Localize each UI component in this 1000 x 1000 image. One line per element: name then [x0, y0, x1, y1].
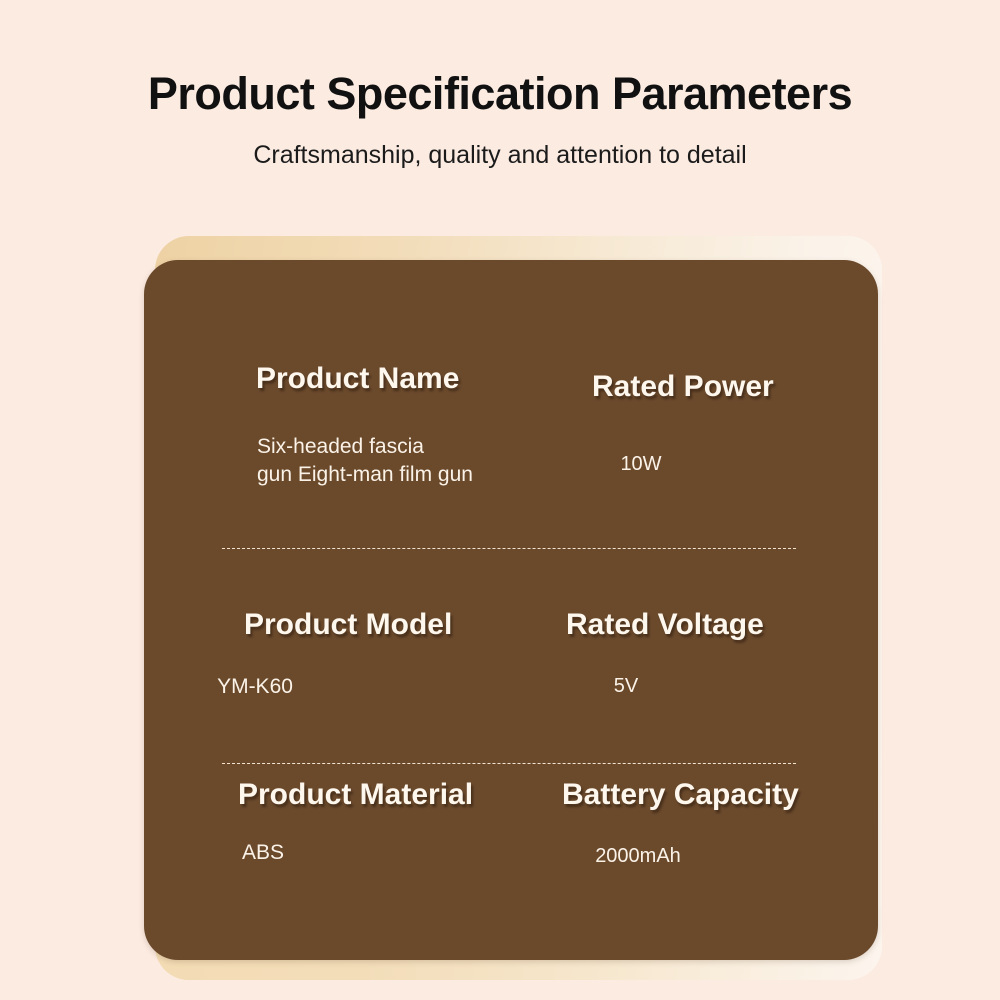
spec-value-rated-voltage: 5V: [474, 641, 878, 699]
spec-card-stack: Product Name Six-headed fascia gun Eight…: [122, 228, 882, 980]
spec-label-battery-capacity: Battery Capacity: [474, 778, 878, 811]
spec-cell-product-name: Product Name Six-headed fascia gun Eight…: [144, 358, 474, 488]
spec-divider: [222, 763, 796, 764]
spec-cell-rated-voltage: Rated Voltage 5V: [474, 608, 878, 699]
spec-row: Product Name Six-headed fascia gun Eight…: [144, 358, 878, 554]
spec-cell-product-model: Product Model YM-K60: [144, 608, 474, 701]
spec-table: Product Name Six-headed fascia gun Eight…: [144, 260, 878, 960]
page-header: Product Specification Parameters Craftsm…: [0, 0, 1000, 170]
spec-label-product-material: Product Material: [144, 778, 474, 811]
spec-cell-rated-power: Rated Power 10W: [474, 358, 878, 477]
spec-row: Product Model YM-K60 Rated Voltage 5V: [144, 608, 878, 776]
spec-value-product-name: Six-headed fascia gun Eight-man film gun: [144, 395, 474, 488]
product-spec-page: Product Specification Parameters Craftsm…: [0, 0, 1000, 1000]
spec-cell-battery-capacity: Battery Capacity 2000mAh: [474, 778, 878, 869]
page-subtitle: Craftsmanship, quality and attention to …: [0, 120, 1000, 170]
spec-value-product-material: ABS: [144, 811, 474, 867]
spec-label-rated-voltage: Rated Voltage: [474, 608, 878, 641]
page-title: Product Specification Parameters: [0, 0, 1000, 120]
spec-label-product-model: Product Model: [144, 608, 474, 641]
spec-cell-product-material: Product Material ABS: [144, 778, 474, 867]
spec-value-product-model: YM-K60: [144, 641, 474, 701]
spec-row: Product Material ABS Battery Capacity 20…: [144, 778, 878, 938]
spec-card: Product Name Six-headed fascia gun Eight…: [144, 260, 878, 960]
spec-value-rated-power: 10W: [474, 403, 878, 477]
spec-value-battery-capacity: 2000mAh: [474, 811, 878, 869]
spec-label-rated-power: Rated Power: [474, 358, 878, 403]
spec-divider: [222, 548, 796, 549]
spec-label-product-name: Product Name: [144, 358, 474, 395]
